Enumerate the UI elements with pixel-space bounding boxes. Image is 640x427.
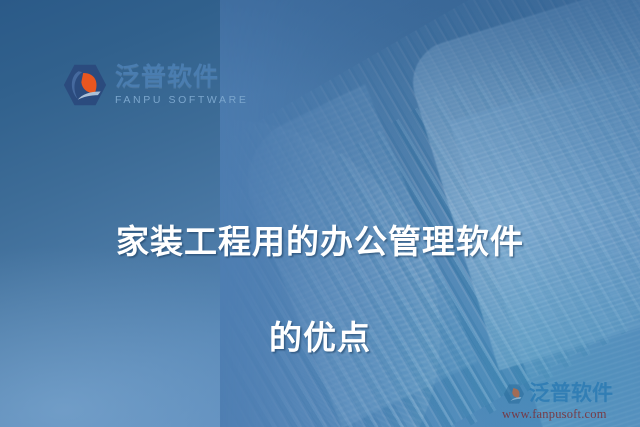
page-title-line-1: 家装工程用的办公管理软件 <box>0 218 640 266</box>
promo-banner: 泛普软件 FANPU SOFTWARE 家装工程用的办公管理软件 的优点 泛普软… <box>0 0 640 427</box>
watermark-brand-name: 泛普软件 <box>529 383 613 404</box>
fanpu-hexagon-logo-icon <box>62 62 108 108</box>
watermark-url: www.fanpusoft.com <box>502 407 634 422</box>
brand-name-cn: 泛普软件 <box>115 65 248 90</box>
fanpu-hexagon-logo-icon <box>502 383 526 405</box>
brand-name-en: FANPU SOFTWARE <box>115 95 248 106</box>
brand-text-block: 泛普软件 FANPU SOFTWARE <box>115 65 248 106</box>
watermark-logo-row: 泛普软件 <box>502 381 634 406</box>
page-title: 家装工程用的办公管理软件 的优点 <box>0 170 640 410</box>
page-title-line-2: 的优点 <box>0 314 640 362</box>
watermark: 泛普软件 www.fanpusoft.com <box>502 381 634 422</box>
brand-logo: 泛普软件 FANPU SOFTWARE <box>62 62 248 108</box>
